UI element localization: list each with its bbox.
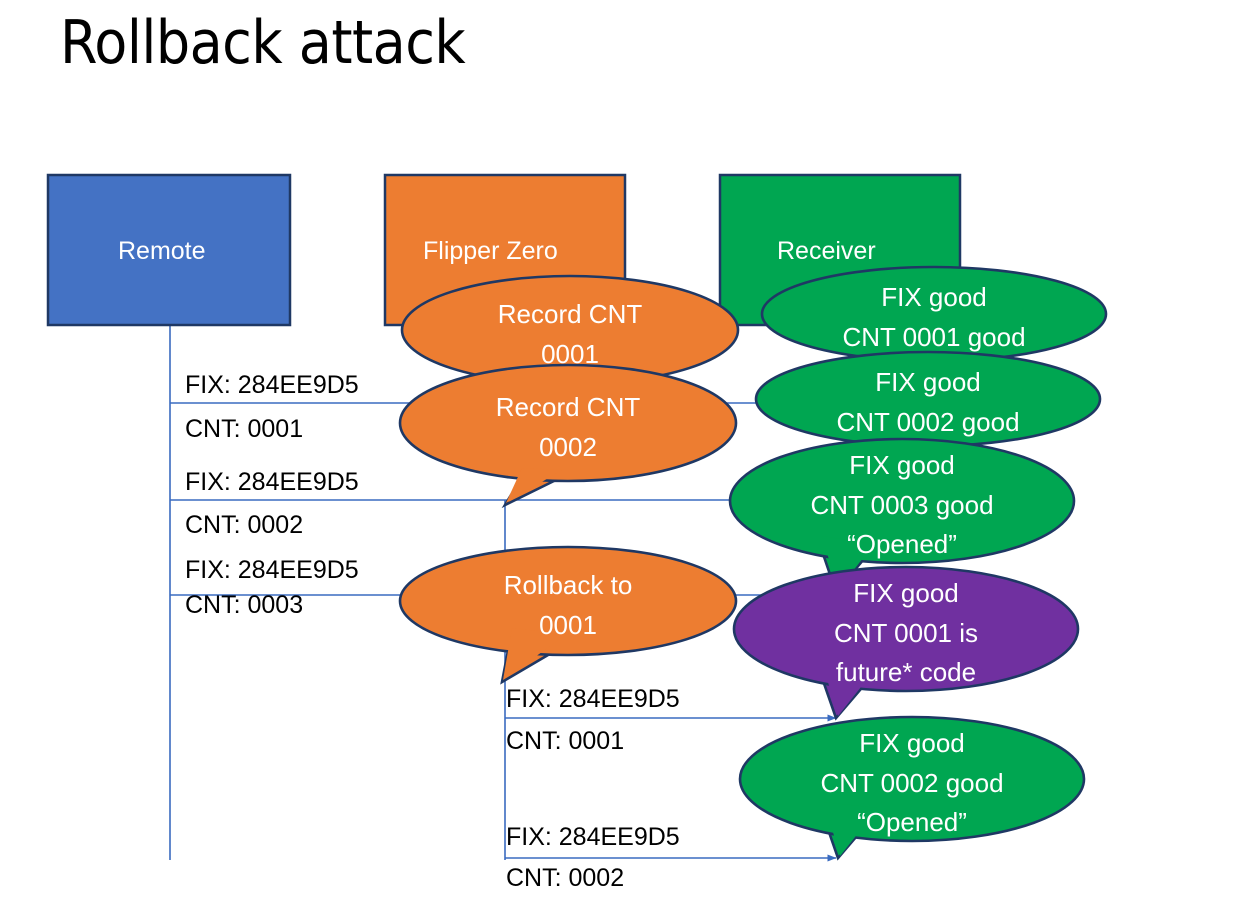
bubble-line: CNT 0001 is [771,614,1041,654]
bubble-line: CNT 0002 good [793,403,1063,443]
bubble-line: 0001 [435,335,705,375]
message-2-cnt: CNT: 0002 [185,511,303,540]
bubble-line: FIX good [799,278,1069,318]
bubble-line: CNT 0003 good [767,486,1037,526]
bubble-line: future* code [771,653,1041,693]
bubble-line: FIX good [767,446,1037,486]
bubble-text-rb1: FIX good CNT 0001 good [799,278,1069,357]
bubble-line: “Opened” [767,525,1037,565]
bubble-line: Rollback to [433,566,703,606]
bubble-text-rb5: FIX good CNT 0002 good “Opened” [777,724,1047,843]
lane-label-receiver: Receiver [777,238,876,266]
bubble-line: FIX good [777,724,1047,764]
bubble-line: Record CNT [433,388,703,428]
bubble-line: “Opened” [777,803,1047,843]
message-5-fix: FIX: 284EE9D5 [506,823,680,852]
bubble-line: 0001 [433,606,703,646]
bubble-text-rb3: FIX good CNT 0003 good “Opened” [767,446,1037,565]
message-1-cnt: CNT: 0001 [185,415,303,444]
bubble-text-rb2: FIX good CNT 0002 good [793,363,1063,442]
lane-label-remote: Remote [118,238,206,266]
lane-label-flipper: Flipper Zero [423,238,558,266]
bubble-line: FIX good [771,574,1041,614]
message-2-fix: FIX: 284EE9D5 [185,468,359,497]
message-4-cnt: CNT: 0001 [506,727,624,756]
slide-canvas: Rollback attack [0,0,1233,898]
bubble-text-fb1: Record CNT 0001 [435,295,705,374]
bubble-text-fb2: Record CNT 0002 [433,388,703,467]
message-4-fix: FIX: 284EE9D5 [506,685,680,714]
bubble-text-rb4: FIX good CNT 0001 is future* code [771,574,1041,693]
bubble-text-fb3: Rollback to 0001 [433,566,703,645]
message-5-cnt: CNT: 0002 [506,864,624,893]
bubble-line: CNT 0001 good [799,318,1069,358]
message-1-fix: FIX: 284EE9D5 [185,371,359,400]
message-3-fix: FIX: 284EE9D5 [185,556,359,585]
bubble-line: CNT 0002 good [777,764,1047,804]
bubble-line: 0002 [433,428,703,468]
bubble-line: Record CNT [435,295,705,335]
bubble-line: FIX good [793,363,1063,403]
message-3-cnt: CNT: 0003 [185,591,303,620]
